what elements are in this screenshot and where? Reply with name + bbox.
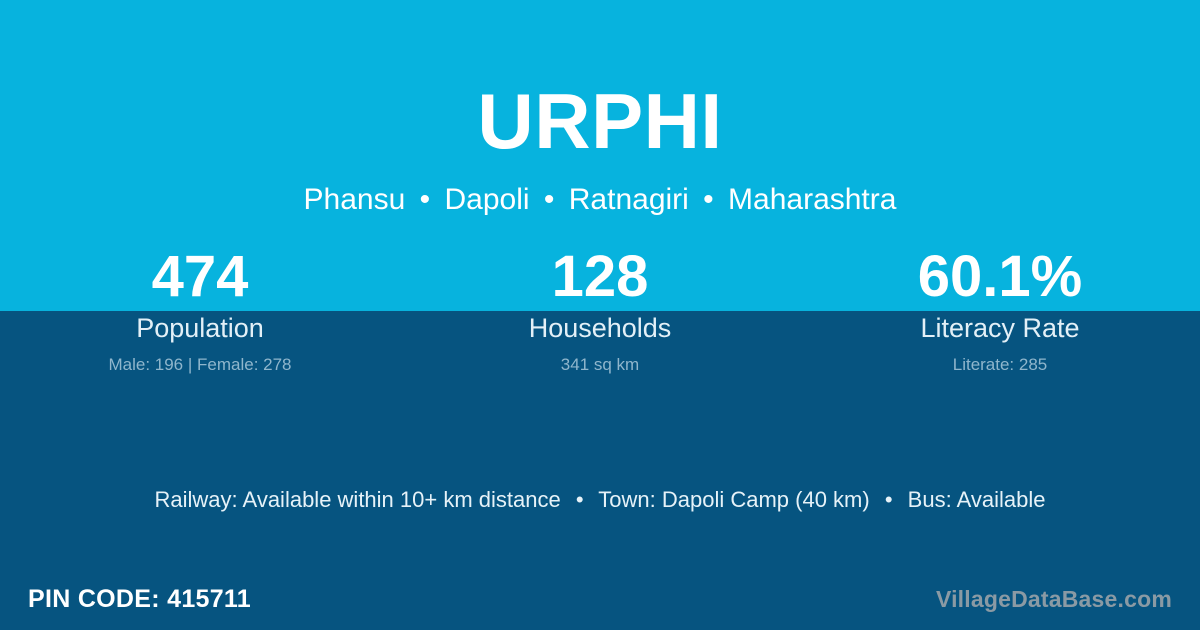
breadcrumb-separator: • [538, 183, 561, 216]
infra-bus: Bus: Available [908, 487, 1046, 512]
stat-label: Population [0, 311, 400, 345]
page-title: URPHI [0, 82, 1200, 160]
breadcrumb-part-village: Phansu [304, 183, 406, 216]
breadcrumb-part-district: Ratnagiri [569, 183, 689, 216]
breadcrumb: Phansu • Dapoli • Ratnagiri • Maharashtr… [0, 182, 1200, 218]
infra-town: Town: Dapoli Camp (40 km) [598, 487, 869, 512]
stat-sub: 341 sq km [400, 354, 800, 376]
infra-railway: Railway: Available within 10+ km distanc… [155, 487, 561, 512]
stat-label: Literacy Rate [800, 311, 1200, 345]
pin-code: PIN CODE: 415711 [28, 585, 251, 614]
breadcrumb-part-taluka: Dapoli [445, 183, 530, 216]
site-brand: VillageDataBase.com [936, 586, 1172, 613]
stats-row: 474 Population Male: 196 | Female: 278 1… [0, 246, 1200, 386]
breadcrumb-separator: • [697, 183, 720, 216]
breadcrumb-part-state: Maharashtra [728, 183, 896, 216]
village-info-card: URPHI Phansu • Dapoli • Ratnagiri • Maha… [0, 0, 1200, 630]
breadcrumb-separator: • [414, 183, 437, 216]
stat-value: 474 [0, 246, 400, 308]
stat-value: 128 [400, 246, 800, 308]
stat-households: 128 Households 341 sq km [400, 246, 800, 386]
stat-value: 60.1% [800, 246, 1200, 308]
stat-sub: Male: 196 | Female: 278 [0, 354, 400, 376]
stat-label: Households [400, 311, 800, 345]
infrastructure-line: Railway: Available within 10+ km distanc… [0, 485, 1200, 515]
stat-literacy-rate: 60.1% Literacy Rate Literate: 285 [800, 246, 1200, 386]
footer: PIN CODE: 415711 VillageDataBase.com [0, 568, 1200, 630]
stat-population: 474 Population Male: 196 | Female: 278 [0, 246, 400, 386]
stat-sub: Literate: 285 [800, 354, 1200, 376]
infra-separator: • [567, 487, 593, 512]
infra-separator: • [876, 487, 902, 512]
